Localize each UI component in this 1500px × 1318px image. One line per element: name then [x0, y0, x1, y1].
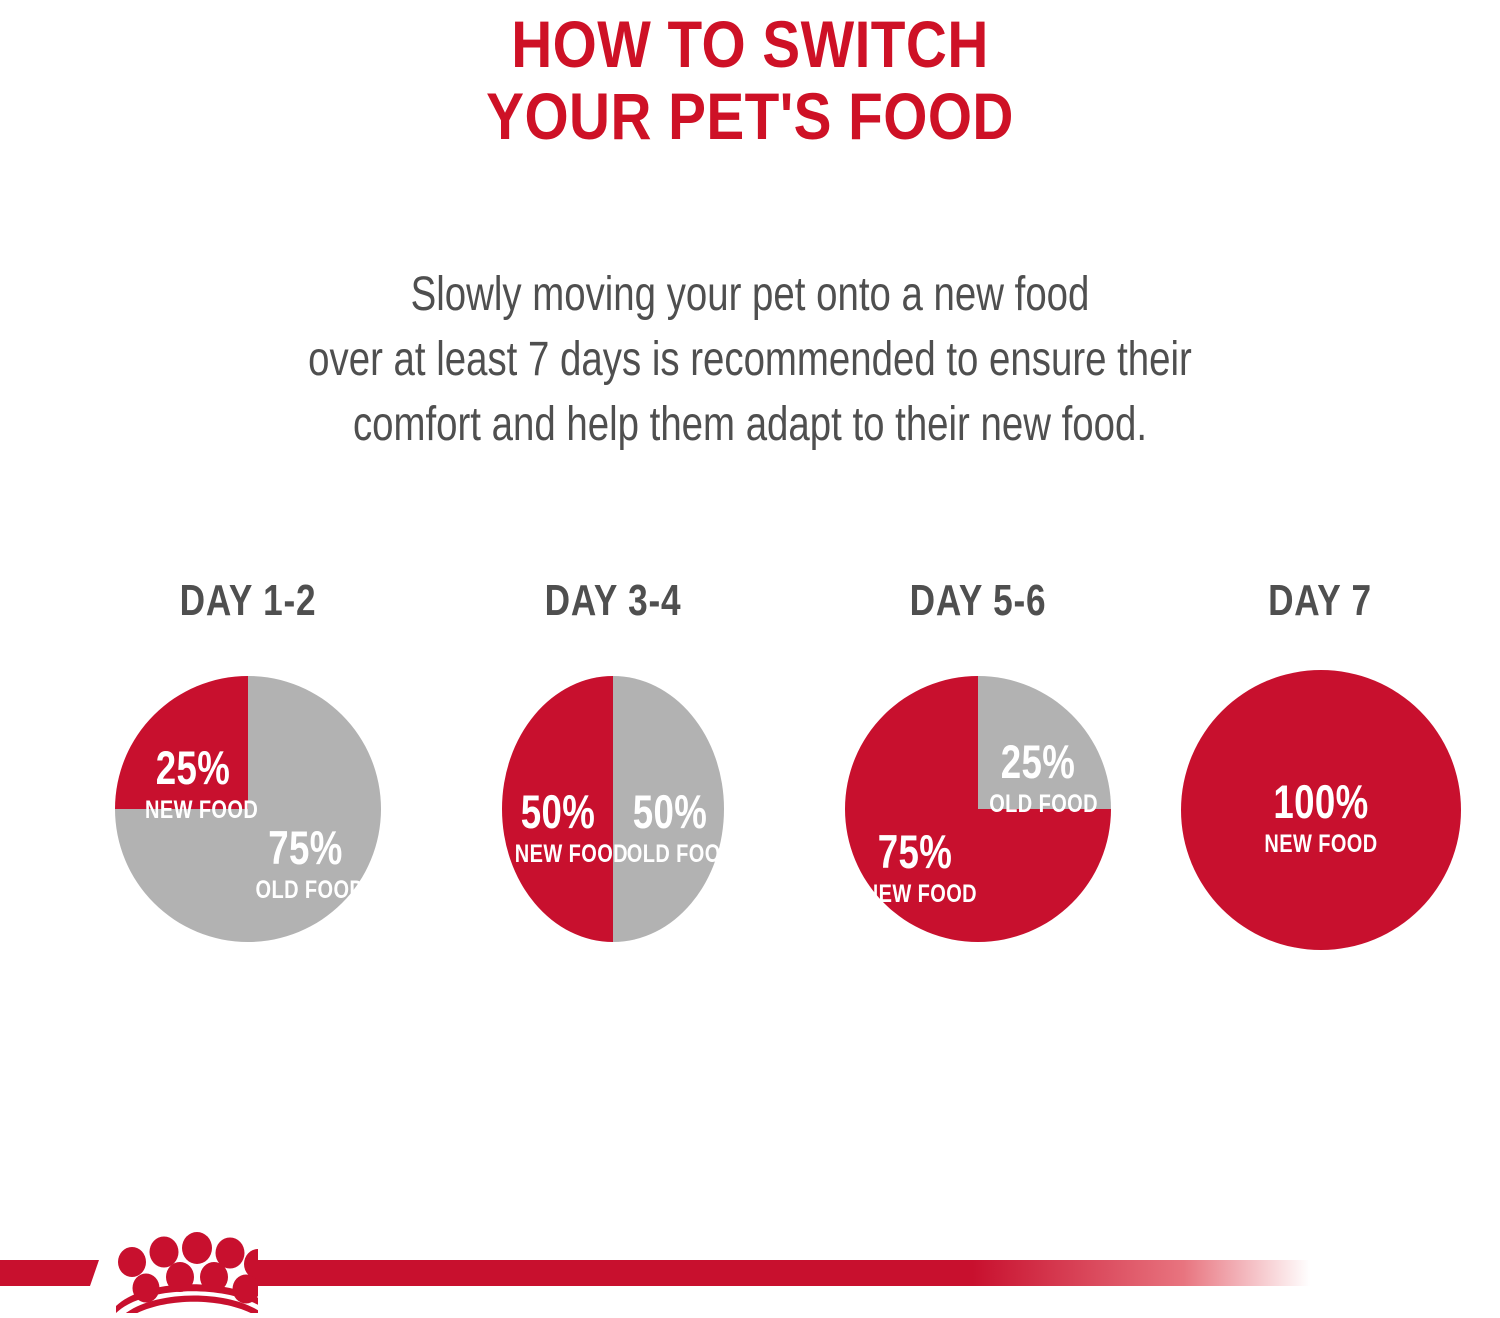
intro-line-1: Slowly moving your pet onto a new food — [150, 262, 1350, 327]
day-label-4: DAY 7 — [1214, 576, 1427, 626]
intro-line-2: over at least 7 days is recommended to e… — [150, 327, 1350, 392]
page-title-line-2: YOUR PET'S FOOD — [105, 80, 1395, 152]
pie-svg-day-3-4 — [502, 676, 724, 942]
footer-bar-left — [0, 1260, 90, 1286]
intro-line-3: comfort and help them adapt to their new… — [150, 392, 1350, 457]
pie-chart-day-3-4: 50% NEW FOOD 50% OLD FOOD — [502, 676, 724, 942]
footer — [0, 1232, 1500, 1313]
pie-chart-day-1-2: 25% NEW FOOD 75% OLD FOOD — [115, 676, 381, 942]
day-label-1: DAY 1-2 — [142, 576, 355, 626]
pie-slice-old-food — [978, 676, 1111, 809]
infographic-page: HOW TO SWITCH YOUR PET'S FOOD Slowly mov… — [0, 0, 1500, 1313]
footer-bar-right — [255, 1260, 1310, 1286]
pie-svg-day-1-2 — [115, 676, 381, 942]
pie-svg-day-5-6 — [845, 676, 1111, 942]
day-label-2: DAY 3-4 — [507, 576, 720, 626]
day-label-3: DAY 5-6 — [872, 576, 1085, 626]
pie-slice-new-food — [502, 676, 613, 942]
pie-slice-new-food — [115, 676, 248, 809]
royal-canin-crown-icon — [88, 1232, 258, 1318]
pie-chart-day-7: 100% NEW FOOD — [1181, 670, 1461, 950]
pie-chart-day-5-6: 25% OLD FOOD 75% NEW FOOD — [845, 676, 1111, 942]
intro-paragraph: Slowly moving your pet onto a new food o… — [150, 262, 1350, 457]
page-title-line-1: HOW TO SWITCH — [105, 8, 1395, 80]
pie-slice-new-food — [1181, 670, 1461, 950]
pie-slice-old-food — [613, 676, 724, 942]
pie-svg-day-7 — [1181, 670, 1461, 950]
page-title: HOW TO SWITCH YOUR PET'S FOOD — [105, 8, 1395, 152]
pie-chart-row: DAY 1-2 25% NEW FOOD 75% OLD FOOD — [0, 576, 1500, 996]
crown-svg — [88, 1232, 258, 1313]
